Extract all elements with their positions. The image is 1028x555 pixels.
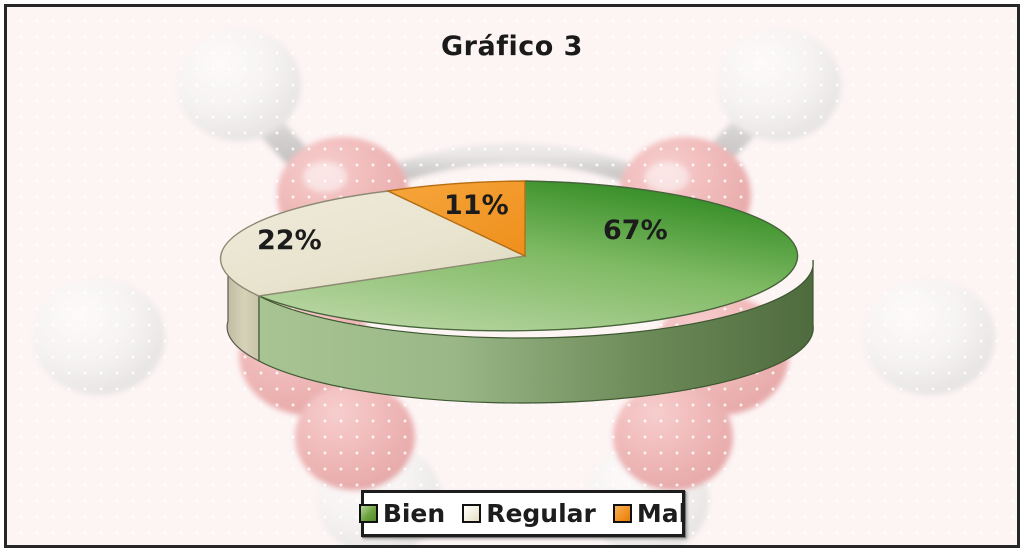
pie-label-regular: 22%	[257, 225, 322, 256]
legend-label-bien: Bien	[383, 501, 445, 526]
pie-chart: 67% 22% 11%	[7, 7, 1017, 545]
chart-legend: Bien Regular Mal	[361, 490, 685, 537]
pie-label-bien: 67%	[603, 215, 668, 246]
pie-chart-svg	[7, 7, 1020, 548]
legend-label-regular: Regular	[486, 501, 596, 526]
legend-swatch-mal-icon	[613, 504, 632, 523]
chart-frame: Gráfico 3	[4, 4, 1020, 548]
legend-item-mal[interactable]: Mal	[613, 501, 687, 526]
legend-item-bien[interactable]: Bien	[359, 501, 445, 526]
legend-swatch-regular-icon	[462, 504, 481, 523]
legend-label-mal: Mal	[637, 501, 687, 526]
legend-swatch-bien-icon	[359, 504, 378, 523]
pie-label-mal: 11%	[444, 190, 509, 221]
legend-item-regular[interactable]: Regular	[462, 501, 596, 526]
